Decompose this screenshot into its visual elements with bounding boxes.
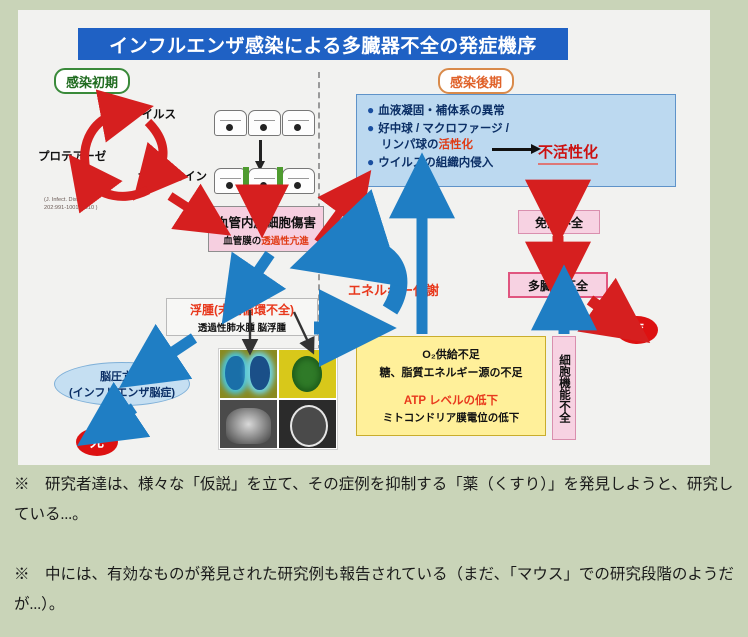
late-box-text-1: 血液凝固・補体系の異常 xyxy=(378,103,505,120)
down-arrow-icon xyxy=(259,140,262,162)
death-marker-left: 死 xyxy=(76,428,118,456)
endothelial-injury-sub: 血管膜の透過性亢進 xyxy=(223,233,309,247)
late-box-text-2: 好中球 / マクロファージ / xyxy=(378,121,509,138)
cell-dysfunction-box: 細胞機能不全 xyxy=(552,336,576,440)
late-box-line-1: ● 血液凝固・補体系の異常 xyxy=(367,102,665,120)
late-box-text-4: ウイルスの組織内侵入 xyxy=(378,155,493,172)
brain-perfusion-scan xyxy=(279,350,336,398)
endothelial-sub-pre: 血管膜の xyxy=(223,236,261,247)
cell-dysfunction-label: 細胞機能不全 xyxy=(558,354,570,423)
edema-box: 浮腫(末梢循環不全) 透過性肺水腫 脳浮腫 xyxy=(166,298,318,336)
death-marker-right: 死 xyxy=(616,316,658,344)
endothelial-injury-title: 血管内皮細胞傷害 xyxy=(216,212,316,231)
late-phase-box: ● 血液凝固・補体系の異常 ● 好中球 / マクロファージ / リンパ球の 活性… xyxy=(356,94,676,187)
metabolism-line-3: ATP レベルの低下 xyxy=(404,392,498,408)
edema-title: 浮腫(末梢循環不全) xyxy=(190,301,294,318)
edema-sub: 透過性肺水腫 脳浮腫 xyxy=(198,320,286,334)
black-arrow-icon xyxy=(492,148,532,151)
epithelial-cell-schematic-icon xyxy=(214,110,312,194)
phase-label-early: 感染初期 xyxy=(54,68,130,94)
late-box-line-2: ● 好中球 / マクロファージ / xyxy=(367,120,665,138)
diagram-title: インフルエンザ感染による多臓器不全の発症機序 xyxy=(78,28,568,60)
chest-xray-scan xyxy=(220,400,277,448)
late-box-line-3: リンパ球の 活性化 xyxy=(367,137,665,154)
label-protease: プロテアーゼ xyxy=(38,148,106,164)
multi-organ-failure-box: 多臓器不全 xyxy=(508,272,608,298)
metabolism-line-4: ミトコンドリア膜電位の低下 xyxy=(383,410,520,425)
endothelial-sub-accent: 透過性亢進 xyxy=(261,236,309,247)
metabolism-line-1: O₂供給不足 xyxy=(422,347,479,365)
diagram-card: インフルエンザ感染による多臓器不全の発症機序 感染初期 感染後期 ウイルス サイ… xyxy=(18,10,710,465)
caption-note-2: ※ 中には、有効なものが発見された研究例も報告されている（まだ、「マウス」での研… xyxy=(14,560,736,620)
cell-unit xyxy=(214,110,247,136)
brain-pressure-line-1: 脳圧亢進 xyxy=(100,368,144,384)
brain-pressure-line-2: (インフルエンザ脳症) xyxy=(69,384,175,400)
brain-ct-scan xyxy=(279,400,336,448)
label-virus: ウイルス xyxy=(130,106,176,122)
label-cytokine: サイトカイン xyxy=(138,168,207,184)
late-box-accent-activation: 活性化 xyxy=(439,137,474,154)
cell-gap-icon xyxy=(243,167,249,193)
caption-note-1: ※ 研究者達は、様々な「仮説」を立て、その症例を抑制する「薬（くすり）」を発見し… xyxy=(14,470,736,530)
citation-text: (J. Infect. Dis. 202:991-1001, 2010 ) xyxy=(44,196,98,212)
page-root: インフルエンザ感染による多臓器不全の発症機序 感染初期 感染後期 ウイルス サイ… xyxy=(0,0,748,637)
metabolism-box: O₂供給不足 糖、脂質エネルギー源の不足 ATP レベルの低下 ミトコンドリア膜… xyxy=(356,336,546,436)
brain-pressure-ellipse: 脳圧亢進 (インフルエンザ脳症) xyxy=(54,362,190,406)
bullet-icon: ● xyxy=(367,154,374,171)
cell-unit xyxy=(282,110,315,136)
metabolism-line-2: 糖、脂質エネルギー源の不足 xyxy=(380,365,523,383)
cell-unit xyxy=(282,168,315,194)
inactivation-label: 不活性化 xyxy=(538,141,598,165)
phase-label-late: 感染後期 xyxy=(438,68,514,94)
cell-row-intact xyxy=(214,110,315,136)
late-box-text-3: リンパ球の xyxy=(381,137,439,154)
late-box-line-4: ● ウイルスの組織内侵入 xyxy=(367,154,665,172)
bullet-icon: ● xyxy=(367,120,374,137)
endothelial-injury-box: 血管内皮細胞傷害 血管膜の透過性亢進 xyxy=(208,206,324,252)
lung-scintigraphy-scan xyxy=(220,350,277,398)
cell-unit xyxy=(248,110,281,136)
cell-row-disrupted xyxy=(214,168,315,194)
medical-scan-grid-icon xyxy=(218,348,338,450)
cell-gap-icon xyxy=(277,167,283,193)
energy-metabolism-label: エネルギー代謝 xyxy=(348,280,439,299)
bullet-icon: ● xyxy=(367,102,374,119)
immunodeficiency-box: 免疫不全 xyxy=(518,210,600,234)
